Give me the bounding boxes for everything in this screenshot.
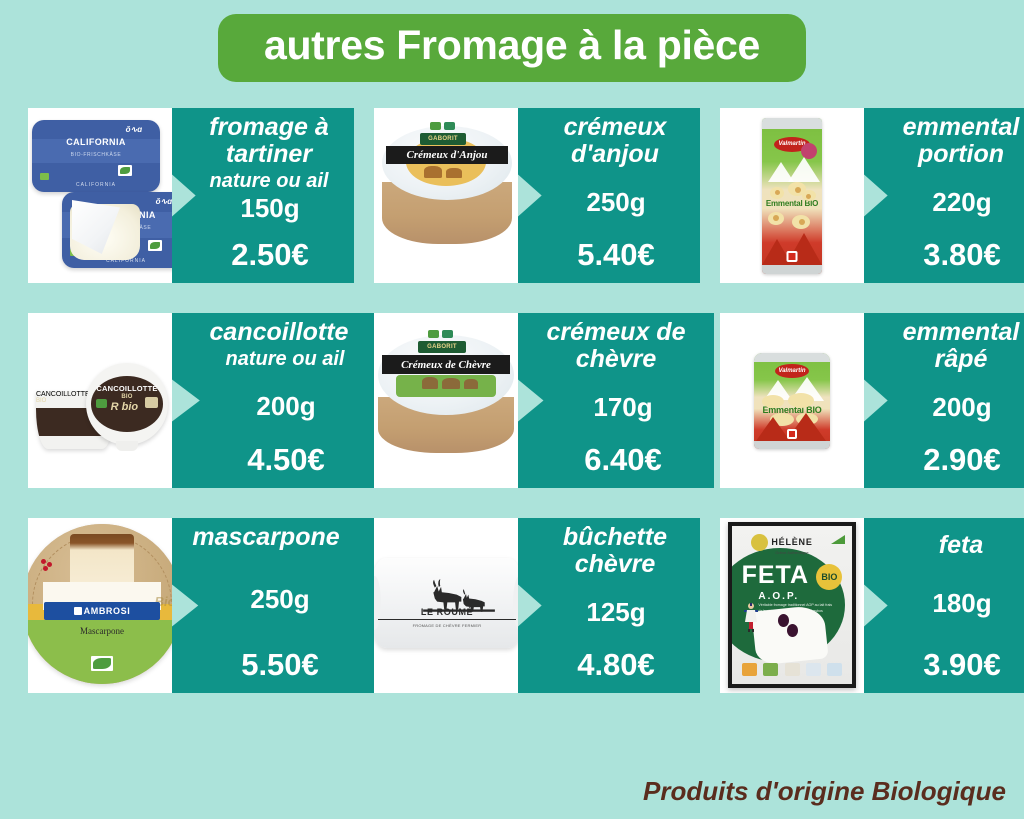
emmental-rape-bag: Valmartin Emmental BIO — [754, 353, 830, 449]
buchette-log: LE ROUMÉ FROMAGE DE CHÈVRE FERMIER — [374, 558, 518, 648]
product-weight: 180g — [932, 588, 991, 619]
pouch-bottom-seal — [762, 265, 822, 274]
goat-illustration-3 — [464, 379, 478, 389]
product-label-panel: bûchette chèvre 125g 4.80€ — [518, 518, 700, 693]
stamp-icon-5 — [827, 663, 842, 676]
footer-text: Produits d'origine Biologique — [643, 776, 1006, 806]
product-name: bûchette chèvre — [530, 524, 700, 578]
cheese-label-text: Crémeux d'Anjou — [407, 149, 488, 161]
product-label-panel: crémeux de chèvre 170g 6.40€ — [518, 313, 714, 488]
gaborit-brand-text: GABORIT — [427, 344, 457, 350]
package-sub-text: BIO-FRISCHKÄSE — [32, 152, 160, 158]
product-name: cancoillotte — [172, 319, 386, 346]
product-label-panel: crémeux d'anjou 250g 5.40€ — [518, 108, 700, 283]
olive-graphic — [778, 614, 789, 627]
feta-word-text: FETA — [742, 561, 809, 590]
product-name: emmental portion — [876, 114, 1024, 168]
emmental-pouch-name: Emmental BIO — [762, 199, 822, 208]
cheese-label-text: Crémeux de Chèvre — [401, 359, 491, 371]
red-mountain-graphic — [756, 417, 790, 441]
product-price: 4.50€ — [247, 442, 325, 478]
eu-bio-leaf-icon — [430, 122, 441, 130]
product-card[interactable]: Valmartin Emmental BIO emmental râpé — [720, 313, 1008, 488]
product-weight: 125g — [586, 597, 645, 628]
cow-illustration — [424, 166, 442, 178]
page-title: autres Fromage à la pièce — [264, 23, 760, 69]
cheese-hole-4 — [773, 215, 779, 221]
product-image-california-frischkase-spread-tubs: ŏ∿ɑ CALIFORNIA BIO-FRISCHKÄSE CALIFORNIA… — [28, 108, 172, 283]
product-label-panel: emmental portion 220g 3.80€ — [864, 108, 1024, 283]
package-bottom-text: CALIFORNIA — [32, 182, 160, 188]
product-grid: ŏ∿ɑ CALIFORNIA BIO-FRISCHKÄSE CALIFORNIA… — [28, 108, 1010, 693]
ambrosi-mark-icon — [74, 607, 82, 615]
wheel-name-band: Crémeux de Chèvre — [382, 355, 510, 374]
redcurrant-berries — [41, 559, 57, 571]
gaborit-logo: GABORIT — [420, 133, 466, 145]
helene-sub-text: Grèce Authentique — [732, 550, 852, 555]
product-image-ambrosi-mascarpone-tub: Bio AMBROSI Mascarpone — [28, 518, 172, 693]
greek-dancer-illustration — [743, 602, 759, 632]
cancoillotte-top-text: CANCOILLOTTE — [86, 384, 168, 393]
bag-bottom-seal — [754, 441, 830, 449]
product-price: 4.80€ — [577, 647, 655, 683]
product-label-panel: feta 180g 3.90€ — [864, 518, 1024, 693]
product-price: 5.50€ — [241, 647, 319, 683]
gaborit-logo: GABORIT — [418, 341, 466, 353]
goat-illustration — [422, 377, 438, 389]
eco-leaf-icon — [118, 165, 132, 176]
swiss-cross-icon — [787, 429, 797, 439]
product-name: crémeux de chèvre — [518, 319, 714, 373]
cow-illustration-2 — [446, 168, 462, 178]
logo-divider — [378, 619, 516, 620]
eu-organic-leaf-icon — [91, 656, 113, 671]
product-label-panel: mascarpone 250g 5.50€ — [172, 518, 374, 693]
product-price: 2.90€ — [923, 442, 1001, 478]
bio-chip-icon-top — [96, 399, 107, 408]
product-label-panel: fromage à tartiner nature ou ail 150g 2.… — [172, 108, 354, 283]
product-label-panel: emmental râpé 200g 2.90€ — [864, 313, 1024, 488]
feta-package-front: HÉLÈNE Grèce Authentique FETA A.O.P. Vér… — [732, 526, 852, 684]
feta-package: HÉLÈNE Grèce Authentique FETA A.O.P. Vér… — [728, 522, 856, 688]
goats-silhouette-icon — [420, 578, 498, 628]
cancoillotte-tub-top: CANCOILLOTTE BIO R bio — [86, 363, 168, 445]
ambrosi-mascarpone-tub: Bio AMBROSI Mascarpone — [28, 524, 172, 684]
product-variant: nature ou ail — [226, 348, 345, 371]
certification-stamps — [742, 663, 843, 676]
tub-foot — [116, 441, 138, 451]
swiss-cross-icon — [787, 251, 798, 262]
product-weight: 220g — [932, 187, 991, 218]
product-name: fromage à tartiner — [184, 114, 354, 168]
product-name: feta — [876, 532, 1024, 559]
product-weight: 200g — [256, 391, 315, 422]
product-price: 3.90€ — [923, 647, 1001, 683]
product-card[interactable]: CANCOILLOTTE BIO CANCOILLOTTE BIO R bio — [28, 313, 316, 488]
product-card[interactable]: HÉLÈNE Grèce Authentique FETA A.O.P. Vér… — [720, 518, 1008, 693]
ambrosi-logo: AMBROSI — [44, 602, 159, 620]
product-image-valmartin-emmental-bio-portion-pouch: Valmartin Emmental BIO — [720, 108, 864, 283]
product-name: mascarpone — [158, 524, 374, 551]
ambrosi-brand-text: AMBROSI — [84, 606, 131, 616]
product-weight: 150g — [240, 193, 299, 224]
gaborit-brand-text: GABORIT — [428, 136, 458, 142]
ab-bio-icon — [444, 122, 455, 130]
stamp-icon-4 — [806, 663, 821, 676]
product-weight: 250g — [250, 584, 309, 615]
cheese-hole — [775, 190, 780, 195]
product-image-gaborit-cremeux-danjou-wheel: GABORIT Crémeux d'Anjou — [374, 108, 518, 283]
package-brand-text: CALIFORNIA — [35, 137, 157, 147]
ab-bio-icon — [442, 330, 453, 338]
product-variant: nature ou ail — [210, 170, 329, 193]
page-title-banner: autres Fromage à la pièce — [0, 14, 1024, 82]
product-image-gaborit-cremeux-de-chevre-wheel: GABORIT Crémeux de Chèvre — [374, 313, 518, 488]
eu-bio-leaf-icon — [428, 330, 439, 338]
product-name: emmental râpé — [876, 319, 1024, 373]
product-weight: 170g — [593, 392, 652, 423]
feta-aop-text: A.O.P. — [758, 591, 799, 602]
emmental-pouch: Valmartin Emmental BIO — [762, 118, 822, 274]
valmartin-logo: Valmartin — [775, 364, 809, 378]
product-card[interactable]: ŏ∿ɑ CALIFORNIA BIO-FRISCHKÄSE CALIFORNIA… — [28, 108, 316, 283]
title-pill: autres Fromage à la pièce — [218, 14, 806, 82]
product-card[interactable]: LE ROUMÉ FROMAGE DE CHÈVRE FERMIER bûche… — [374, 518, 662, 693]
product-label-panel: cancoillotte nature ou ail 200g 4.50€ — [172, 313, 386, 488]
le-roume-logo — [420, 578, 498, 628]
stamp-icon-2 — [763, 663, 778, 676]
label-chip-icon — [145, 397, 158, 408]
product-card[interactable]: Valmartin Emmental BIO — [720, 108, 1008, 283]
footer: Produits d'origine Biologique — [643, 776, 1006, 807]
product-weight: 250g — [586, 187, 645, 218]
stamp-icon — [742, 663, 757, 676]
mountain-graphic-2 — [788, 157, 820, 182]
ambrosi-product-text: Mascarpone — [28, 626, 172, 636]
roume-sub-text: FROMAGE DE CHÈVRE FERMIER — [374, 623, 518, 628]
product-card[interactable]: Bio AMBROSI Mascarpone mascarpone 250g 5… — [28, 518, 316, 693]
product-image-valmartin-emmental-bio-rape-bag: Valmartin Emmental BIO — [720, 313, 864, 488]
stamp-icon-3 — [785, 663, 800, 676]
product-price: 3.80€ — [923, 237, 1001, 273]
pouch-top-seal — [762, 118, 822, 129]
rbio-logo-text: R bio — [111, 401, 139, 413]
product-weight: 200g — [932, 392, 991, 423]
roume-brand-text: LE ROUMÉ — [374, 607, 518, 617]
product-image-cancoillotte-bio-tubs: CANCOILLOTTE BIO CANCOILLOTTE BIO R bio — [28, 313, 172, 488]
helene-brand-text: HÉLÈNE — [732, 537, 852, 547]
product-image-le-roume-buchette-chevre-log: LE ROUMÉ FROMAGE DE CHÈVRE FERMIER — [374, 518, 518, 693]
product-name: crémeux d'anjou — [530, 114, 700, 168]
goat-illustration-2 — [442, 378, 460, 389]
product-price: 5.40€ — [577, 237, 655, 273]
product-card[interactable]: GABORIT Crémeux d'Anjou crémeux d'anjou … — [374, 108, 662, 283]
bag-top-seal — [754, 353, 830, 362]
product-price: 2.50€ — [231, 237, 309, 273]
product-price: 6.40€ — [584, 442, 662, 478]
product-image-helene-feta-aop-bio-pack: HÉLÈNE Grèce Authentique FETA A.O.P. Vér… — [720, 518, 864, 693]
bio-chip-icon — [40, 173, 49, 180]
valmartin-brand-text: Valmartin — [778, 368, 805, 374]
product-card[interactable]: GABORIT Crémeux de Chèvre crémeux de chè… — [374, 313, 662, 488]
eco-leaf-icon-2 — [148, 240, 162, 251]
cheese-hole-2 — [795, 187, 801, 193]
wheel-name-band: Crémeux d'Anjou — [386, 146, 508, 164]
